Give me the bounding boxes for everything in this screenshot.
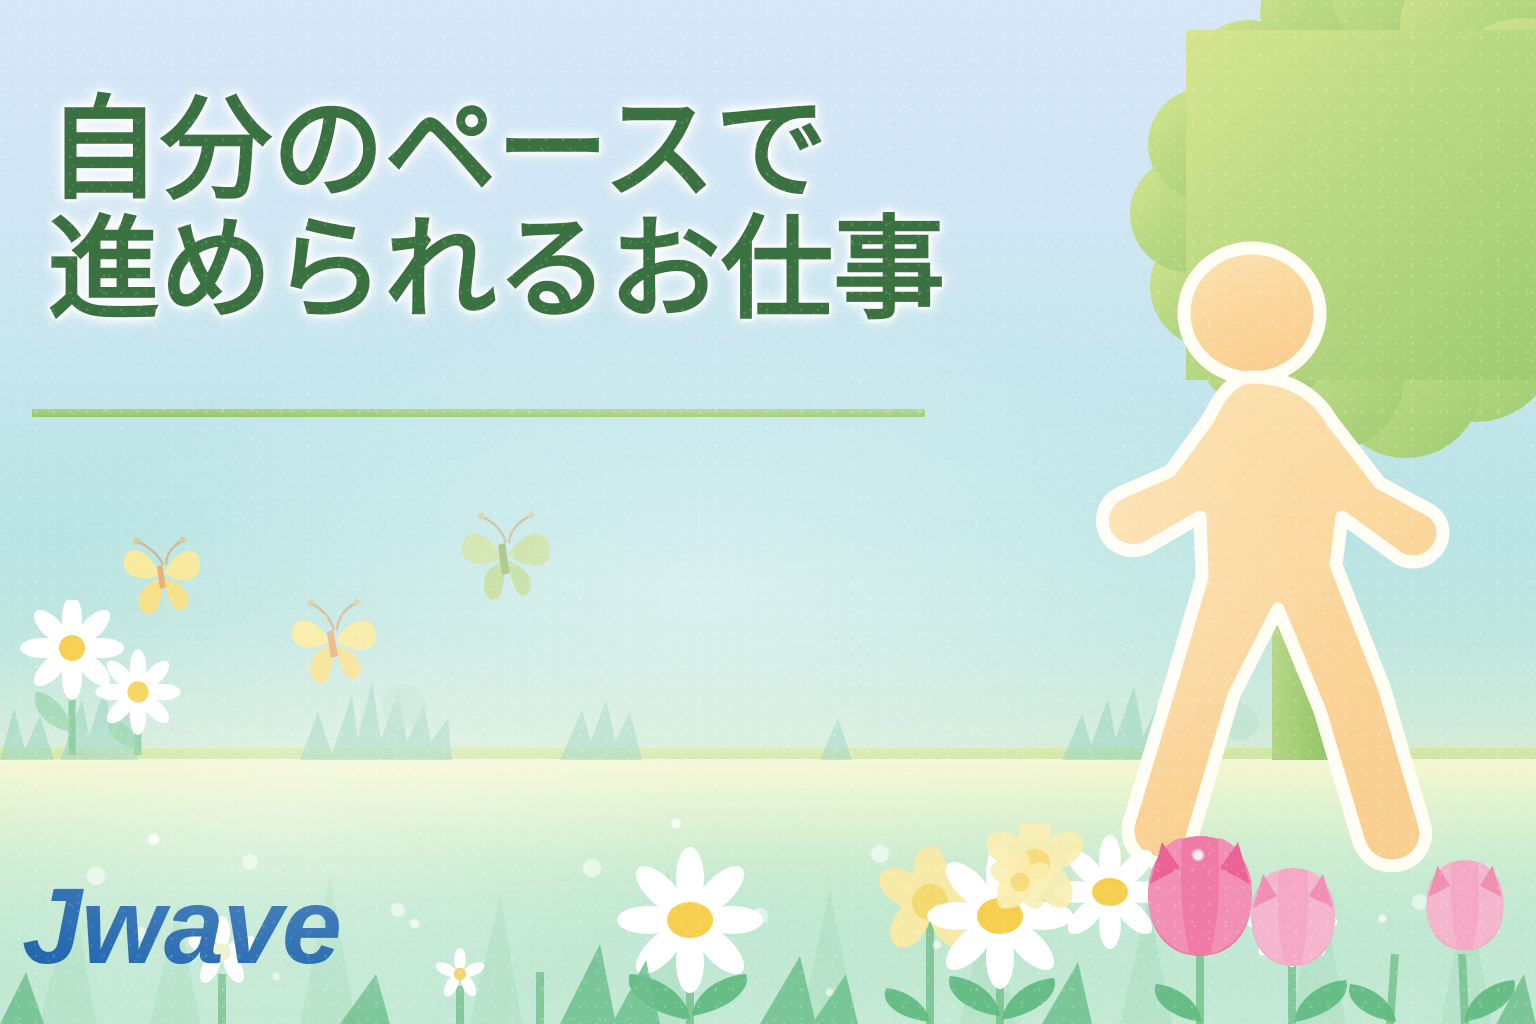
headline-divider (32, 409, 925, 417)
headline-line-1: 自分のペースで (48, 90, 945, 210)
daisy-flower (617, 847, 763, 993)
tulip-light-pink (1251, 868, 1335, 966)
walker-head (1184, 248, 1320, 378)
walking-person-pictogram (1020, 225, 1450, 895)
tulip-light-pink (1426, 860, 1503, 950)
daisy-flower (95, 649, 180, 734)
tulip-pink (1148, 836, 1252, 956)
left-daisies-group (0, 600, 480, 770)
banner-canvas: 自分のペースで 進められるお仕事 Jwave (0, 0, 1536, 1024)
butterfly-green-upper-icon (452, 505, 560, 605)
jwave-logo[interactable]: Jwave (22, 872, 341, 980)
headline-line-2: 進められるお仕事 (48, 210, 945, 330)
headline: 自分のペースで 進められるお仕事 (48, 90, 945, 330)
walker-body (1102, 377, 1443, 866)
